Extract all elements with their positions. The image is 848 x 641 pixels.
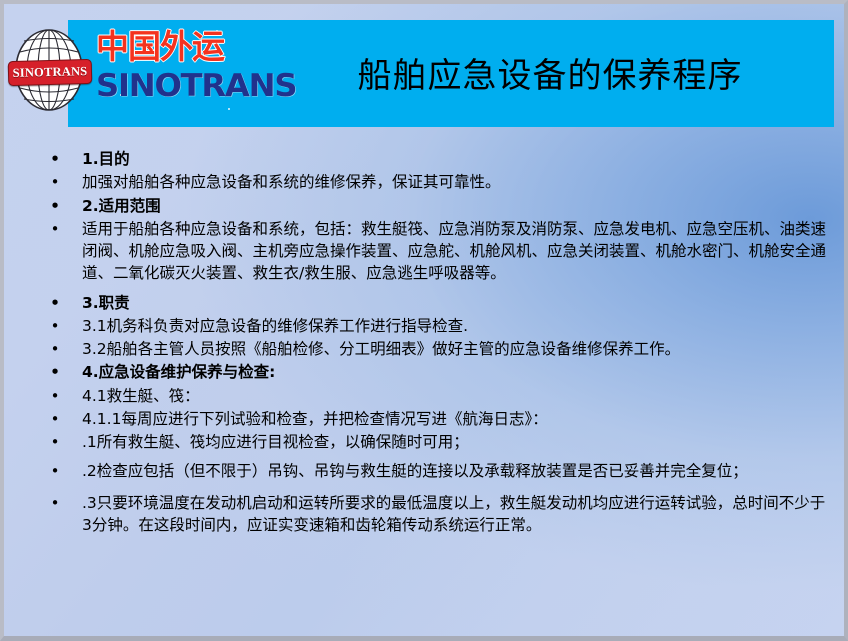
- list-bullet-icon: •: [50, 492, 60, 514]
- list-item: •4.1.1每周应进行下列试验和检查，并把检查情况写进《航海日志》：: [4, 408, 848, 430]
- list-bullet-icon: •: [50, 171, 60, 193]
- list-item: •2.适用范围: [4, 195, 848, 217]
- list-item: •4.1救生艇、筏：: [4, 385, 848, 407]
- list-item-text: .2检查应包括（但不限于）吊钩、吊钩与救生艇的连接以及承载释放装置是否已妥善并完…: [82, 460, 832, 482]
- brand-name-chinese: 中国外运: [96, 28, 256, 66]
- list-bullet-icon: •: [50, 218, 60, 240]
- brand-name-english: SINOTRANS: [96, 68, 262, 104]
- list-bullet-icon: •: [50, 431, 60, 453]
- list-bullet-icon: •: [50, 460, 60, 482]
- logo-ribbon-text: SINOTRANS: [12, 64, 87, 81]
- list-bullet-icon: •: [50, 338, 60, 360]
- list-item-text: 3.1机务科负责对应急设备的维修保养工作进行指导检查.: [82, 315, 832, 337]
- presentation-slide: SINOTRANS 中国外运 SINOTRANS 船舶应急设备的保养程序 •1.…: [0, 0, 848, 641]
- sinotrans-logo: SINOTRANS: [8, 28, 90, 112]
- list-item-text: .1所有救生艇、筏均应进行目视检查，以确保随时可用；: [82, 431, 832, 453]
- logo-ribbon: SINOTRANS: [8, 59, 93, 86]
- list-bullet-icon: •: [50, 195, 60, 217]
- list-bullet-icon: •: [50, 292, 60, 314]
- list-bullet-icon: •: [50, 385, 60, 407]
- list-item-text: 加强对船舶各种应急设备和系统的维修保养，保证其可靠性。: [82, 171, 832, 193]
- list-item-text: 3.2船舶各主管人员按照《船舶检修、分工明细表》做好主管的应急设备维修保养工作。: [82, 338, 832, 360]
- list-item: •.2检查应包括（但不限于）吊钩、吊钩与救生艇的连接以及承载释放装置是否已妥善并…: [4, 460, 848, 482]
- slide-body-list: •1.目的•加强对船舶各种应急设备和系统的维修保养，保证其可靠性。•2.适用范围…: [4, 147, 848, 536]
- brand-lockup: 中国外运 SINOTRANS: [96, 28, 256, 114]
- list-bullet-icon: •: [50, 361, 60, 383]
- list-bullet-icon: •: [50, 408, 60, 430]
- list-bullet-icon: •: [50, 315, 60, 337]
- list-item: •1.目的: [4, 148, 848, 170]
- list-item-text: 4.1.1每周应进行下列试验和检查，并把检查情况写进《航海日志》：: [82, 408, 832, 430]
- list-item-text: 1.目的: [82, 148, 832, 170]
- list-item-text: 4.1救生艇、筏：: [82, 385, 832, 407]
- list-item-text: 2.适用范围: [82, 195, 832, 217]
- list-item-text: .3只要环境温度在发动机启动和运转所要求的最低温度以上，救生艇发动机均应进行运转…: [82, 492, 832, 536]
- list-item: •3.2船舶各主管人员按照《船舶检修、分工明细表》做好主管的应急设备维修保养工作…: [4, 338, 848, 360]
- list-item: •适用于船舶各种应急设备和系统，包括：救生艇筏、应急消防泵及消防泵、应急发电机、…: [4, 218, 848, 285]
- list-item-text: 3.职责: [82, 292, 832, 314]
- list-item-text: 适用于船舶各种应急设备和系统，包括：救生艇筏、应急消防泵及消防泵、应急发电机、应…: [82, 218, 832, 285]
- list-item: •3.职责: [4, 292, 848, 314]
- list-item: •.1所有救生艇、筏均应进行目视检查，以确保随时可用；: [4, 431, 848, 453]
- list-item: •加强对船舶各种应急设备和系统的维修保养，保证其可靠性。: [4, 171, 848, 193]
- list-item: •4.应急设备维护保养与检查:: [4, 361, 848, 383]
- slide-title: 船舶应急设备的保养程序: [270, 40, 830, 104]
- list-item: •.3只要环境温度在发动机启动和运转所要求的最低温度以上，救生艇发动机均应进行运…: [4, 492, 848, 536]
- list-item: •3.1机务科负责对应急设备的维修保养工作进行指导检查.: [4, 315, 848, 337]
- list-item-text: 4.应急设备维护保养与检查:: [82, 361, 832, 383]
- list-bullet-icon: •: [50, 148, 60, 170]
